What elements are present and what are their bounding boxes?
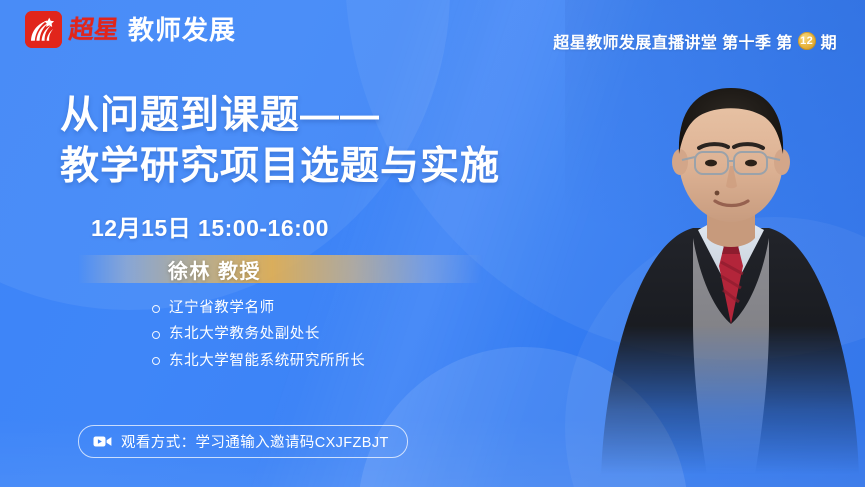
speaker-portrait-image xyxy=(597,62,865,487)
episode-prefix: 超星教师发展直播讲堂 第十季 第 xyxy=(553,29,792,53)
schedule-datetime: 12月15日 15:00-16:00 xyxy=(91,209,329,243)
episode-suffix: 期 xyxy=(821,29,837,53)
brand-name-cn: 超星 xyxy=(68,17,121,42)
brand-name-sub: 教师发展 xyxy=(128,17,236,43)
livestream-poster: 超星 教师发展 超星教师发展直播讲堂 第十季 第 12 期 从问题到课题—— 教… xyxy=(0,0,865,487)
episode-label: 超星教师发展直播讲堂 第十季 第 12 期 xyxy=(553,29,837,53)
episode-number-badge: 12 xyxy=(798,32,816,50)
speaker-name: 徐林 教授 xyxy=(168,255,261,283)
speaker-credentials: 辽宁省教学名师 东北大学教务处副处长 东北大学智能系统研究所所长 xyxy=(152,300,365,379)
list-item: 辽宁省教学名师 xyxy=(152,300,365,317)
page-title: 从问题到课题—— 教学研究项目选题与实施 xyxy=(60,90,500,193)
watch-method-pill[interactable]: 观看方式：学习通输入邀请码CXJFZBJT xyxy=(78,425,408,458)
title-line-1: 从问题到课题—— xyxy=(60,90,500,141)
brand-logo: 超星 教师发展 xyxy=(25,11,236,48)
chaoxing-star-logo-icon xyxy=(25,11,62,48)
credential-text: 东北大学教务处副处长 xyxy=(169,326,320,343)
credential-text: 东北大学智能系统研究所所长 xyxy=(169,353,365,370)
video-camera-icon xyxy=(93,435,112,448)
watch-method-label: 观看方式：学习通输入邀请码CXJFZBJT xyxy=(121,431,389,452)
title-line-2: 教学研究项目选题与实施 xyxy=(60,141,500,192)
list-item: 东北大学教务处副处长 xyxy=(152,326,365,343)
bullet-circle-icon xyxy=(152,357,160,365)
speaker-name-band xyxy=(78,255,483,283)
credential-text: 辽宁省教学名师 xyxy=(169,300,275,317)
list-item: 东北大学智能系统研究所所长 xyxy=(152,353,365,370)
bullet-circle-icon xyxy=(152,305,160,313)
bullet-circle-icon xyxy=(152,331,160,339)
speaker-portrait xyxy=(597,62,865,487)
